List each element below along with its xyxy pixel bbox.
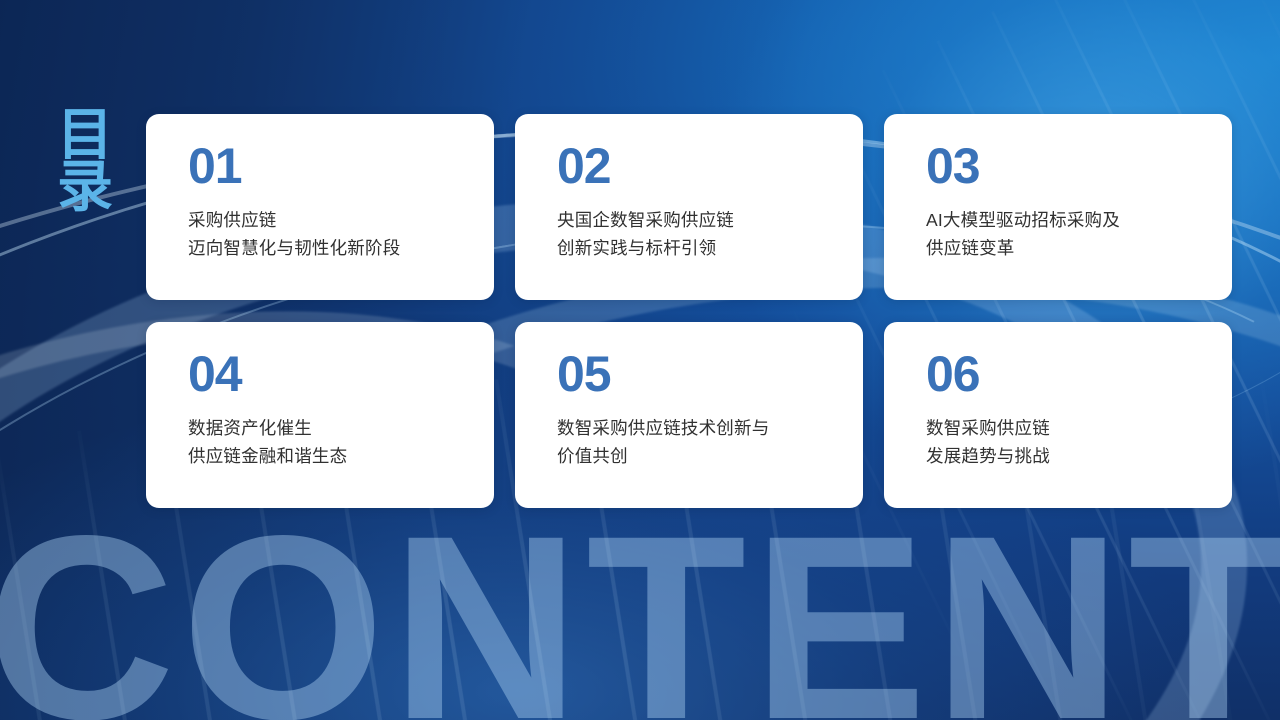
contents-slide: CONTENTS 目 录 01 采购供应链 迈向智慧化与韧性化新阶段 02 央国… [0,0,1280,720]
card-number: 04 [188,349,464,399]
card-number: 05 [557,349,833,399]
contents-card-03[interactable]: 03 AI大模型驱动招标采购及 供应链变革 [884,114,1232,300]
card-title-line: 发展趋势与挑战 [926,443,1202,471]
card-title: 央国企数智采购供应链 创新实践与标杆引领 [557,207,833,262]
card-title: 数智采购供应链 发展趋势与挑战 [926,415,1202,470]
card-title-line: 供应链金融和谐生态 [188,443,464,471]
contents-card-04[interactable]: 04 数据资产化催生 供应链金融和谐生态 [146,322,494,508]
card-title-line: 供应链变革 [926,235,1202,263]
card-title-line: 创新实践与标杆引领 [557,235,833,263]
contents-card-06[interactable]: 06 数智采购供应链 发展趋势与挑战 [884,322,1232,508]
card-number: 01 [188,141,464,191]
card-title-line: 数智采购供应链技术创新与 [557,415,833,443]
toc-label-char-1: 目 [45,109,125,161]
card-title-line: AI大模型驱动招标采购及 [926,207,1202,235]
card-title: 数智采购供应链技术创新与 价值共创 [557,415,833,470]
card-title-line: 价值共创 [557,443,833,471]
card-title: AI大模型驱动招标采购及 供应链变革 [926,207,1202,262]
toc-label-char-2: 录 [45,161,125,213]
card-title-line: 央国企数智采购供应链 [557,207,833,235]
contents-card-05[interactable]: 05 数智采购供应链技术创新与 价值共创 [515,322,863,508]
card-title-line: 迈向智慧化与韧性化新阶段 [188,235,464,263]
card-number: 02 [557,141,833,191]
card-number: 03 [926,141,1202,191]
card-number: 06 [926,349,1202,399]
card-title: 采购供应链 迈向智慧化与韧性化新阶段 [188,207,464,262]
table-of-contents-label: 目 录 [45,109,125,213]
contents-card-01[interactable]: 01 采购供应链 迈向智慧化与韧性化新阶段 [146,114,494,300]
contents-card-02[interactable]: 02 央国企数智采购供应链 创新实践与标杆引领 [515,114,863,300]
contents-card-grid: 01 采购供应链 迈向智慧化与韧性化新阶段 02 央国企数智采购供应链 创新实践… [146,114,1232,508]
card-title: 数据资产化催生 供应链金融和谐生态 [188,415,464,470]
card-title-line: 数据资产化催生 [188,415,464,443]
card-title-line: 采购供应链 [188,207,464,235]
card-title-line: 数智采购供应链 [926,415,1202,443]
